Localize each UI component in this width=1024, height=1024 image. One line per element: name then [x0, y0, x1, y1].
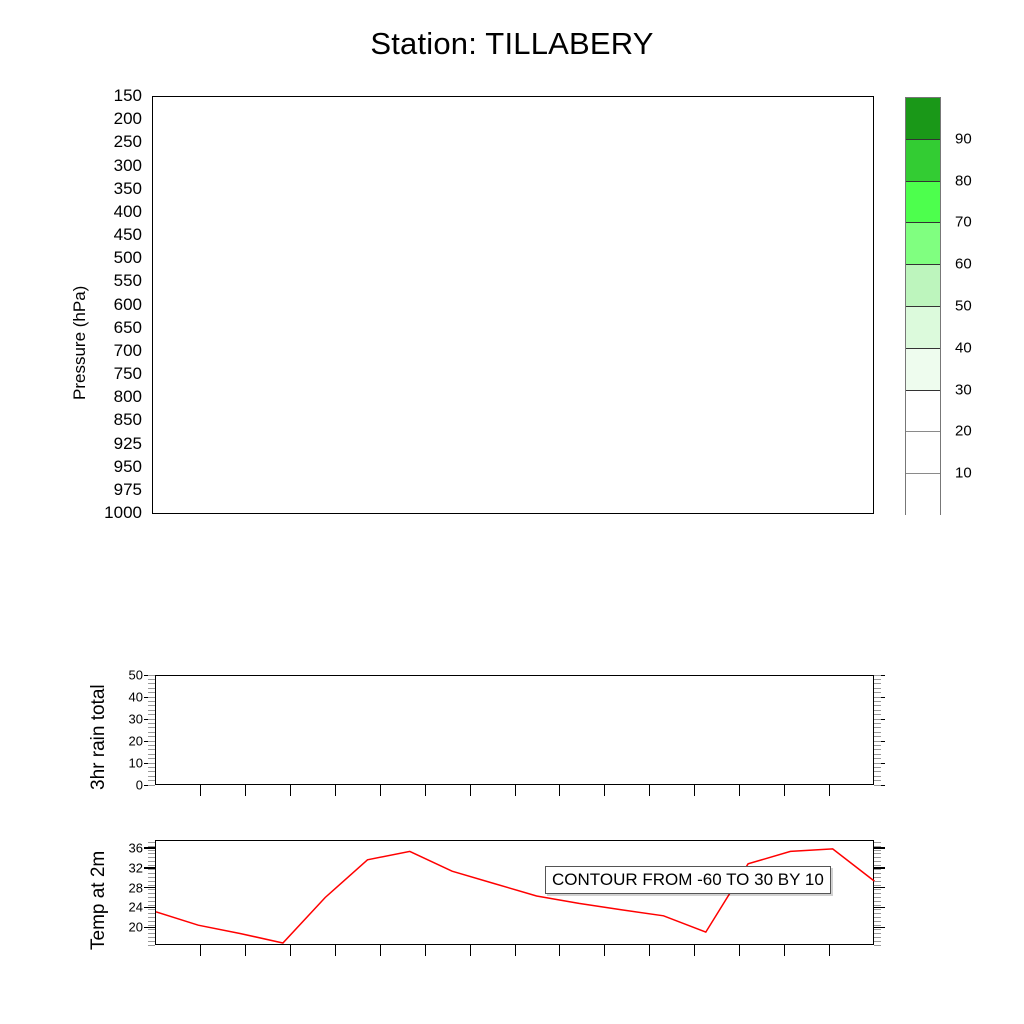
x-tick	[245, 785, 246, 796]
y-minor-tick	[874, 679, 881, 680]
y-minor-tick	[148, 877, 155, 878]
colorbar-tick-label: 10	[955, 465, 972, 482]
y-minor-tick	[874, 692, 881, 693]
pressure-tick-label: 350	[114, 179, 142, 199]
y-minor-tick	[148, 941, 155, 942]
y-minor-tick	[148, 749, 155, 750]
y-minor-tick	[874, 929, 881, 930]
y-minor-tick	[148, 853, 155, 854]
y-tick-label: 36	[109, 840, 143, 855]
y-minor-tick	[148, 767, 155, 768]
colorbar-band	[906, 98, 940, 140]
y-minor-tick	[874, 683, 881, 684]
y-tick-label: 28	[109, 880, 143, 895]
pressure-tick-label: 650	[114, 318, 142, 338]
y-minor-tick	[874, 749, 881, 750]
y-minor-tick	[148, 745, 155, 746]
y-minor-tick	[148, 945, 155, 946]
y-minor-tick	[874, 741, 881, 742]
y-minor-tick	[148, 917, 155, 918]
y-minor-tick	[148, 780, 155, 781]
x-tick	[515, 945, 516, 956]
x-tick	[739, 945, 740, 956]
y-minor-tick	[874, 785, 881, 786]
y-minor-tick	[874, 945, 881, 946]
rain-total-panel[interactable]	[155, 675, 874, 785]
pressure-tick-label: 400	[114, 202, 142, 222]
x-tick	[335, 785, 336, 796]
y-tick-label: 20	[109, 734, 143, 749]
y-minor-tick	[148, 865, 155, 866]
colorbar-band	[906, 391, 940, 433]
y-minor-tick	[874, 714, 881, 715]
colorbar-tick-label: 30	[955, 381, 972, 398]
x-tick	[649, 945, 650, 956]
x-tick	[425, 785, 426, 796]
x-tick	[559, 785, 560, 796]
y-minor-tick	[148, 921, 155, 922]
y-minor-tick	[148, 909, 155, 910]
colorbar-tick-label: 50	[955, 298, 972, 315]
y-minor-tick	[874, 889, 881, 890]
pressure-tick-label: 450	[114, 225, 142, 245]
temp-panel-y-axis-title: Temp at 2m	[88, 851, 110, 950]
y-minor-tick	[148, 901, 155, 902]
x-tick	[694, 785, 695, 796]
y-minor-tick	[148, 929, 155, 930]
y-minor-tick	[148, 776, 155, 777]
y-minor-tick	[148, 701, 155, 702]
x-tick	[200, 785, 201, 796]
y-minor-tick	[148, 873, 155, 874]
y-minor-tick	[874, 933, 881, 934]
y-minor-tick	[148, 723, 155, 724]
y-minor-tick	[874, 697, 881, 698]
y-minor-tick	[148, 937, 155, 938]
y-minor-tick	[148, 732, 155, 733]
colorbar-band	[906, 265, 940, 307]
y-minor-tick	[148, 758, 155, 759]
colorbar-tick-label: 60	[955, 256, 972, 273]
y-minor-tick	[874, 905, 881, 906]
y-minor-tick	[148, 688, 155, 689]
pressure-tick-label: 250	[114, 132, 142, 152]
pressure-tick-label: 300	[114, 156, 142, 176]
x-tick	[200, 945, 201, 956]
y-tick-label: 40	[109, 690, 143, 705]
x-tick	[604, 785, 605, 796]
y-minor-tick	[874, 763, 881, 764]
y-minor-tick	[874, 846, 881, 847]
x-tick	[470, 785, 471, 796]
colorbar-band	[906, 307, 940, 349]
pressure-tick-label: 700	[114, 341, 142, 361]
colorbar-band	[906, 474, 940, 516]
y-minor-tick	[148, 881, 155, 882]
x-tick	[694, 945, 695, 956]
y-minor-tick	[874, 850, 881, 851]
y-minor-tick	[874, 688, 881, 689]
y-tick-label: 20	[109, 920, 143, 935]
x-tick	[829, 945, 830, 956]
y-minor-tick	[874, 909, 881, 910]
pressure-tick-label: 750	[114, 364, 142, 384]
y-minor-tick	[874, 776, 881, 777]
y-minor-tick	[148, 869, 155, 870]
y-minor-tick	[148, 846, 155, 847]
y-minor-tick	[874, 754, 881, 755]
x-tick	[649, 785, 650, 796]
y-tick-label: 30	[109, 712, 143, 727]
y-minor-tick	[874, 780, 881, 781]
y-minor-tick	[148, 850, 155, 851]
y-minor-tick	[148, 697, 155, 698]
y-minor-tick	[874, 857, 881, 858]
y-minor-tick	[874, 941, 881, 942]
colorbar-tick-label: 80	[955, 172, 972, 189]
y-minor-tick	[874, 745, 881, 746]
main-plot-frame	[152, 96, 874, 514]
y-minor-tick	[874, 727, 881, 728]
pressure-tick-label: 1000	[104, 503, 142, 523]
y-minor-tick	[148, 842, 155, 843]
pressure-tick-label: 600	[114, 295, 142, 315]
pressure-tick-label: 200	[114, 109, 142, 129]
y-minor-tick	[148, 741, 155, 742]
page-title: Station: TILLABERY	[0, 26, 1024, 62]
y-minor-tick	[874, 701, 881, 702]
y-minor-tick	[874, 917, 881, 918]
pressure-tick-label: 950	[114, 457, 142, 477]
y-minor-tick	[148, 861, 155, 862]
y-minor-tick	[874, 842, 881, 843]
y-minor-tick	[874, 893, 881, 894]
y-minor-tick	[874, 901, 881, 902]
y-minor-tick	[148, 893, 155, 894]
y-minor-tick	[148, 763, 155, 764]
x-tick	[380, 945, 381, 956]
x-tick	[604, 945, 605, 956]
y-minor-tick	[148, 905, 155, 906]
y-minor-tick	[148, 897, 155, 898]
y-minor-tick	[148, 913, 155, 914]
colorbar-band	[906, 349, 940, 391]
rain-panel-y-axis-title: 3hr rain total	[88, 684, 110, 790]
x-tick	[784, 785, 785, 796]
colorbar-tick-label: 40	[955, 339, 972, 356]
y-minor-tick	[148, 679, 155, 680]
humidity-colorbar[interactable]	[905, 97, 941, 515]
x-tick	[829, 785, 830, 796]
y-minor-tick	[874, 771, 881, 772]
y-minor-tick	[148, 705, 155, 706]
x-tick	[380, 785, 381, 796]
data-line	[156, 849, 875, 943]
y-tick-label: 10	[109, 756, 143, 771]
y-minor-tick	[874, 921, 881, 922]
y-minor-tick	[874, 869, 881, 870]
y-minor-tick	[148, 683, 155, 684]
colorbar-band	[906, 223, 940, 265]
y-minor-tick	[874, 897, 881, 898]
y-minor-tick	[874, 705, 881, 706]
y-minor-tick	[874, 732, 881, 733]
y-minor-tick	[874, 881, 881, 882]
y-minor-tick	[874, 736, 881, 737]
pressure-tick-label: 800	[114, 387, 142, 407]
colorbar-tick-label: 90	[955, 130, 972, 147]
y-minor-tick	[148, 710, 155, 711]
colorbar-band	[906, 182, 940, 224]
x-tick	[559, 945, 560, 956]
y-minor-tick	[148, 754, 155, 755]
x-tick	[335, 945, 336, 956]
colorbar-band	[906, 432, 940, 474]
pressure-tick-label: 500	[114, 248, 142, 268]
pressure-tick-label: 975	[114, 480, 142, 500]
y-minor-tick	[148, 675, 155, 676]
x-tick	[784, 945, 785, 956]
y-minor-tick	[874, 873, 881, 874]
y-minor-tick	[148, 692, 155, 693]
y-tick-label: 32	[109, 860, 143, 875]
y-minor-tick	[148, 889, 155, 890]
y-minor-tick	[148, 857, 155, 858]
main-plot-y-axis-title: Pressure (hPa)	[70, 286, 90, 400]
x-tick	[425, 945, 426, 956]
x-tick	[739, 785, 740, 796]
y-minor-tick	[148, 785, 155, 786]
y-minor-tick	[148, 885, 155, 886]
x-tick	[290, 785, 291, 796]
x-tick	[245, 945, 246, 956]
y-minor-tick	[874, 710, 881, 711]
y-tick-label: 50	[109, 668, 143, 683]
y-minor-tick	[874, 758, 881, 759]
pressure-tick-label: 550	[114, 271, 142, 291]
y-tick-label: 0	[109, 778, 143, 793]
y-minor-tick	[874, 925, 881, 926]
contour-annotation: CONTOUR FROM -60 TO 30 BY 10	[545, 866, 831, 894]
colorbar-tick-label: 20	[955, 423, 972, 440]
colorbar-tick-label: 70	[955, 214, 972, 231]
y-minor-tick	[148, 925, 155, 926]
x-tick	[290, 945, 291, 956]
y-minor-tick	[874, 937, 881, 938]
pressure-tick-label: 850	[114, 410, 142, 430]
pressure-tick-label: 150	[114, 86, 142, 106]
y-minor-tick	[148, 933, 155, 934]
y-minor-tick	[148, 727, 155, 728]
y-minor-tick	[874, 913, 881, 914]
y-minor-tick	[874, 853, 881, 854]
y-minor-tick	[874, 767, 881, 768]
y-tick-label: 24	[109, 900, 143, 915]
y-minor-tick	[874, 861, 881, 862]
x-tick	[470, 945, 471, 956]
y-minor-tick	[148, 719, 155, 720]
colorbar-band	[906, 140, 940, 182]
y-minor-tick	[874, 885, 881, 886]
y-minor-tick	[874, 877, 881, 878]
y-minor-tick	[148, 736, 155, 737]
rain-panel-canvas	[156, 676, 875, 786]
x-tick	[515, 785, 516, 796]
y-minor-tick	[148, 714, 155, 715]
y-minor-tick	[874, 719, 881, 720]
y-minor-tick	[874, 723, 881, 724]
y-minor-tick	[874, 675, 881, 676]
pressure-tick-label: 925	[114, 434, 142, 454]
y-minor-tick	[874, 865, 881, 866]
time-height-cross-section-plot[interactable]: 1010303030303030301030305050505050505070…	[152, 96, 874, 514]
y-minor-tick	[148, 771, 155, 772]
